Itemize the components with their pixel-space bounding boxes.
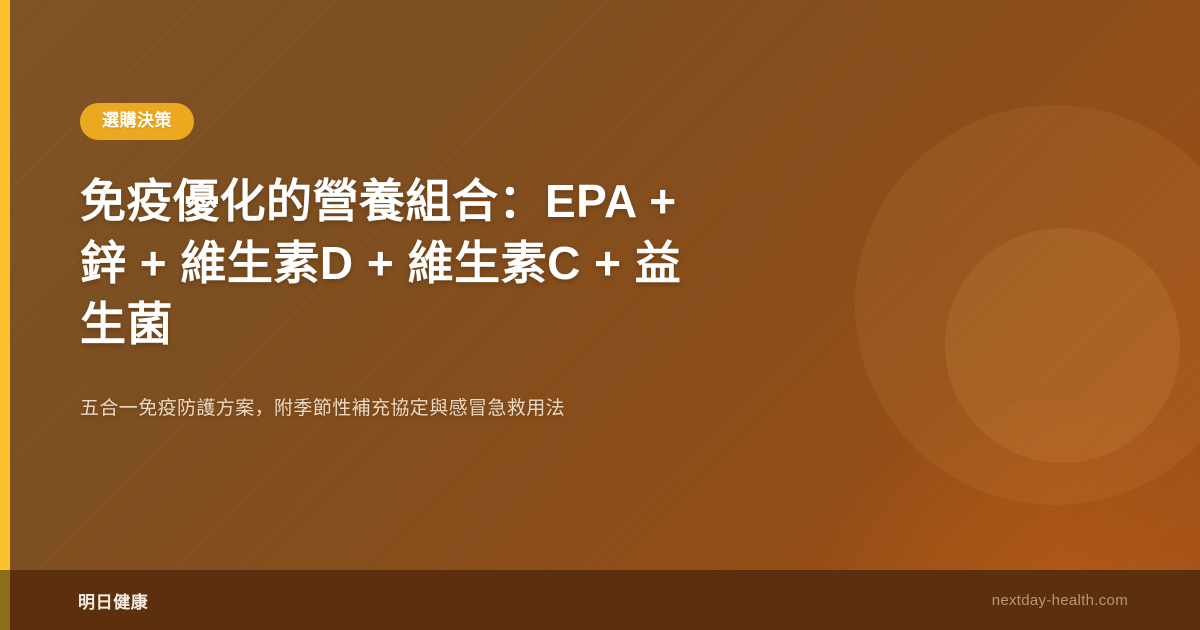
category-badge[interactable]: 選購決策 bbox=[80, 103, 194, 140]
social-share-card: 選購決策 免疫優化的營養組合：EPA + 鋅 + 維生素D + 維生素C + 益… bbox=[0, 0, 1200, 630]
left-accent-bar-footer-segment bbox=[0, 570, 10, 630]
page-subtitle: 五合一免疫防護方案，附季節性補充協定與感冒急救用法 bbox=[80, 394, 740, 423]
card-content: 選購決策 免疫優化的營養組合：EPA + 鋅 + 維生素D + 維生素C + 益… bbox=[80, 0, 780, 423]
left-accent-bar bbox=[0, 0, 10, 630]
footer-domain: nextday-health.com bbox=[992, 592, 1128, 609]
footer-brand-name: 明日健康 bbox=[78, 588, 148, 613]
page-title: 免疫優化的營養組合：EPA + 鋅 + 維生素D + 維生素C + 益生菌 bbox=[80, 171, 700, 355]
card-footer: 明日健康 nextday-health.com bbox=[0, 570, 1200, 630]
